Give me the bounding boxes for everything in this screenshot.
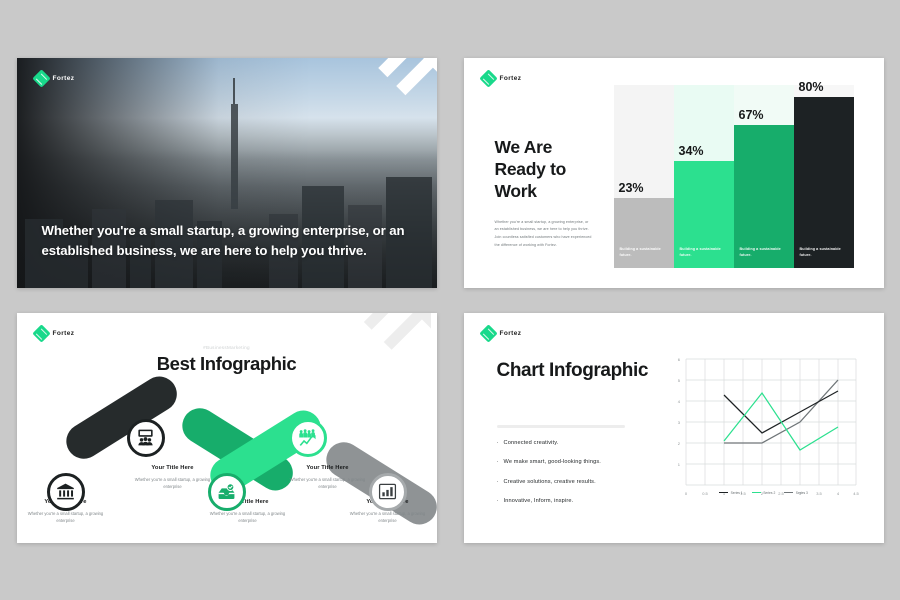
bar[interactable]: 34% Building a sustainable future.: [674, 161, 734, 267]
infographic-caption: Your Title Here Whether you're a small s…: [282, 465, 374, 490]
slide3-title: Best Infographic: [17, 353, 437, 375]
diamond-logo-icon: [35, 327, 48, 340]
bar-value-label: 67%: [739, 108, 764, 125]
caption-body: Whether you're a small startup, a growin…: [342, 510, 434, 524]
slide4-title: Chart Infographic: [497, 359, 649, 383]
bullet-text: Innovative, Inform, inspire.: [504, 499, 574, 505]
caption-title: Your Title Here: [282, 465, 374, 471]
bullet-text: We make smart, good-looking things.: [504, 460, 602, 466]
bullet-icon: ·: [497, 499, 499, 505]
y-axis-ticks: 6 5 4 3 2 1: [677, 357, 680, 467]
node-inbox-check[interactable]: [208, 473, 246, 511]
node-people-growth[interactable]: [289, 419, 327, 457]
bar[interactable]: 23% Building a sustainable future.: [614, 198, 674, 268]
infographic-caption: Your Title Here Whether you're a small s…: [127, 465, 219, 490]
bullet-text: Connected creativity.: [504, 441, 559, 447]
legend-label: Series 3: [796, 491, 808, 495]
bar-value-label: 34%: [679, 144, 704, 161]
bar[interactable]: 80% Building a sustainable future.: [794, 97, 854, 267]
bar-caption: Building a sustainable future.: [794, 247, 854, 267]
chart-grid: [686, 359, 856, 485]
caption-body: Whether you're a small startup, a growin…: [282, 476, 374, 490]
bar-chart-icon: [378, 482, 397, 501]
connector-band: [59, 369, 183, 464]
svg-text:1: 1: [677, 462, 680, 467]
brand-name: Fortez: [53, 75, 75, 82]
bar-caption: Building a sustainable future.: [614, 247, 674, 267]
node-bank[interactable]: [47, 473, 85, 511]
legend-label: Series 1: [731, 491, 743, 495]
caption-body: Whether you're a small startup, a growin…: [202, 510, 294, 524]
bullet-icon: ·: [497, 480, 499, 486]
legend-label: Series 2: [763, 491, 775, 495]
legend-swatch: [719, 492, 728, 494]
bullet-text: Creative solutions, creative results.: [504, 480, 596, 486]
svg-text:4: 4: [677, 399, 680, 404]
brand-name: Fortez: [500, 75, 522, 82]
caption-body: Whether you're a small startup, a growin…: [20, 510, 112, 524]
bar-value-label: 80%: [799, 80, 824, 97]
bar-column[interactable]: 80% Building a sustainable future.: [794, 85, 854, 268]
slide-we-are-ready[interactable]: Fortez We Are Ready to Work Whether you'…: [464, 58, 884, 288]
diamond-logo-icon: [482, 72, 495, 85]
bullet-icon: ·: [497, 460, 499, 466]
diamond-logo-icon: [35, 72, 48, 85]
inbox-check-icon: [217, 482, 236, 501]
people-growth-icon: [298, 428, 317, 447]
brand-logo[interactable]: Fortez: [35, 72, 75, 85]
legend-item[interactable]: Series 2: [752, 491, 776, 495]
svg-text:6: 6: [677, 357, 680, 362]
caption-title: Your Title Here: [127, 465, 219, 471]
slide2-text-block: We Are Ready to Work Whether you're a sm…: [495, 136, 593, 250]
list-item: · We make smart, good-looking things.: [497, 460, 667, 466]
bar-chart: 23% Building a sustainable future. 34% B…: [614, 85, 854, 268]
caption-body: Whether you're a small startup, a growin…: [127, 476, 219, 490]
bullet-list: · Connected creativity. · We make smart,…: [497, 441, 667, 519]
chart-legend: Series 1 Series 2 Series 3: [664, 491, 864, 495]
brand-logo[interactable]: Fortez: [482, 327, 522, 340]
list-item: · Connected creativity.: [497, 441, 667, 447]
slide3-hashtag: #BusinessMarketing: [17, 345, 437, 350]
slide-chart-infographic[interactable]: Fortez Chart Infographic · Connected cre…: [464, 313, 884, 543]
bar-caption: Building a sustainable future.: [674, 247, 734, 267]
bar-column[interactable]: 34% Building a sustainable future.: [674, 85, 734, 268]
legend-swatch: [784, 492, 793, 494]
slide2-title: We Are Ready to Work: [495, 136, 593, 203]
bar-value-label: 23%: [619, 181, 644, 198]
bar-column[interactable]: 23% Building a sustainable future.: [614, 85, 674, 268]
bar-column[interactable]: 67% Building a sustainable future.: [734, 85, 794, 268]
bullet-icon: ·: [497, 441, 499, 447]
node-bar-chart[interactable]: [369, 473, 407, 511]
brand-logo[interactable]: Fortez: [482, 72, 522, 85]
slide-best-infographic[interactable]: Fortez #BusinessMarketing Best Infograph…: [17, 313, 437, 543]
divider: [497, 425, 625, 428]
bar[interactable]: 67% Building a sustainable future.: [734, 125, 794, 268]
legend-swatch: [752, 492, 761, 494]
brand-name: Fortez: [53, 330, 75, 337]
legend-item[interactable]: Series 1: [719, 491, 743, 495]
presentation-people-icon: [136, 428, 155, 447]
brand-logo[interactable]: Fortez: [35, 327, 75, 340]
node-presentation-people[interactable]: [127, 419, 165, 457]
bank-icon: [56, 482, 75, 501]
list-item: · Innovative, Inform, inspire.: [497, 499, 667, 505]
bar-caption: Building a sustainable future.: [734, 247, 794, 267]
brand-name: Fortez: [500, 330, 522, 337]
svg-text:2: 2: [677, 441, 680, 446]
svg-text:5: 5: [677, 378, 680, 383]
list-item: · Creative solutions, creative results.: [497, 480, 667, 486]
slide-deck-preview: Fortez Whether you're a small startup, a…: [0, 0, 900, 600]
diamond-logo-icon: [482, 327, 495, 340]
chevron-decoration: [359, 58, 437, 124]
slide-cover[interactable]: Fortez Whether you're a small startup, a…: [17, 58, 437, 288]
empire-state-building: [231, 104, 238, 210]
legend-item[interactable]: Series 3: [784, 491, 808, 495]
cover-headline: Whether you're a small startup, a growin…: [42, 221, 407, 261]
slide2-body: Whether you're a small startup, a growin…: [495, 219, 593, 250]
svg-text:3: 3: [677, 420, 680, 425]
zigzag-infographic: [17, 389, 437, 493]
